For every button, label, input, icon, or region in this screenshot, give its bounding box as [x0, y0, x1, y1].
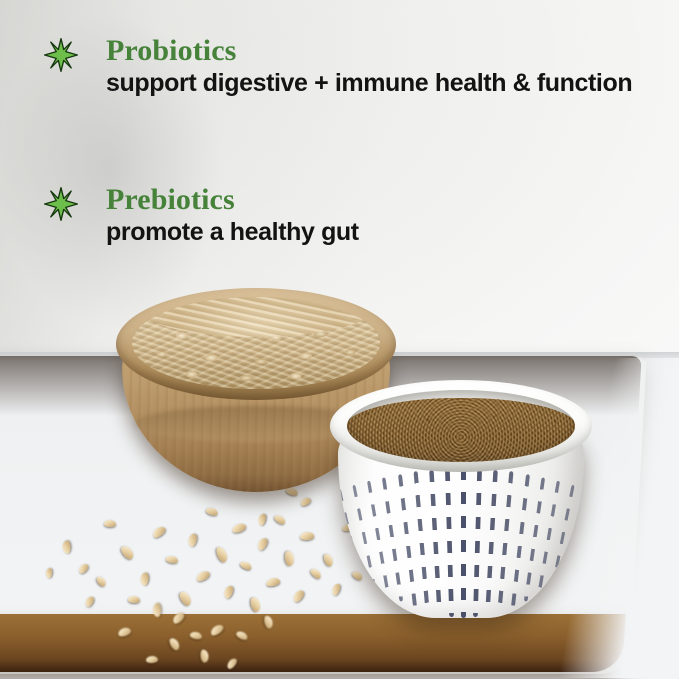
benefit-description: promote a healthy gut [106, 217, 666, 248]
ceramic-bowl-dash-column [445, 468, 454, 616]
ceramic-bowl-dash-column [485, 470, 498, 614]
ceramic-bowl-rim [330, 380, 592, 472]
infographic-canvas: Probiotics support digestive + immune he… [0, 0, 679, 679]
ground-flaxseed [347, 398, 575, 462]
ceramic-bowl-interior [347, 390, 575, 462]
ceramic-bowl-dash-column [498, 471, 514, 610]
oat-flake [128, 595, 141, 603]
benefits-text-block: Probiotics support digestive + immune he… [0, 0, 679, 300]
benefit-heading: Probiotics [106, 34, 236, 68]
sparkle-star-icon [44, 38, 78, 72]
benefit-description: support digestive + immune health & func… [106, 68, 666, 99]
ceramic-bowl-of-flaxseed [330, 380, 592, 632]
oat-flake [63, 541, 71, 554]
wooden-bowl-interior [132, 297, 380, 389]
wooden-bowl-foot [162, 464, 352, 494]
oat-flake [104, 520, 116, 528]
sparkle-star-icon [44, 187, 78, 221]
ceramic-bowl-dash-pattern [338, 468, 584, 618]
oat-flake [153, 603, 161, 617]
ceramic-bowl-dash-column [429, 470, 442, 614]
benefit-heading: Prebiotics [106, 183, 235, 217]
ceramic-bowl-dash-column [473, 468, 482, 616]
ceramic-bowl-dash-column [461, 468, 466, 618]
ceramic-bowl-dash-column [413, 471, 429, 610]
